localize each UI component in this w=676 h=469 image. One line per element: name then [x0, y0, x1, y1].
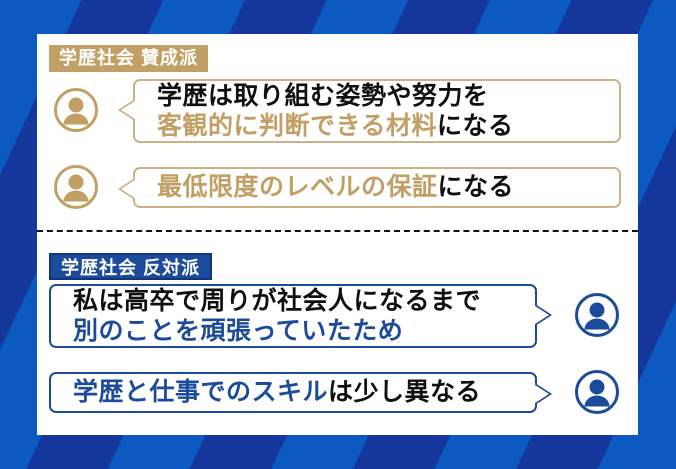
statement-line: 学歴は取り組む姿勢や努力を — [157, 81, 619, 112]
statement-text-segment: になる — [437, 112, 514, 140]
statement-line: 私は高卒で周りが社会人になるまで — [73, 286, 535, 317]
statement-line: 最低限度のレベルの保証になる — [157, 172, 619, 203]
statement-bubble-con-2: 学歴と仕事でのスキルは少し異なる — [49, 372, 537, 413]
person-avatar-icon — [53, 87, 99, 133]
statement-text-segment: になる — [438, 173, 515, 201]
statement-text-segment: 私は高卒で周りが社会人になるまで — [73, 287, 481, 315]
section-divider — [37, 230, 638, 232]
statement-text-segment: 学歴と仕事でのスキル — [73, 378, 328, 406]
bubble-tail-inner — [121, 101, 135, 119]
slide-background: 学歴社会 賛成派 学歴は取り組む姿勢や努力を 客観的に判断できる材料になる — [0, 0, 676, 469]
person-avatar-icon — [574, 292, 620, 338]
section-label-pro: 学歴社会 賛成派 — [49, 45, 208, 72]
statement-text-segment: 客観的に判断できる材料 — [157, 112, 437, 140]
person-avatar-icon — [53, 164, 99, 210]
statement-line: 客観的に判断できる材料になる — [157, 111, 619, 142]
statement-line: 学歴と仕事でのスキルは少し異なる — [73, 377, 535, 408]
bubble-tail-inner — [121, 180, 135, 198]
statement-bubble-con-1: 私は高卒で周りが社会人になるまで 別のことを頑張っていたため — [49, 284, 537, 348]
person-avatar-icon — [574, 369, 620, 415]
statement-text-segment: は少し異なる — [328, 378, 481, 406]
statement-line: 別のことを頑張っていたため — [73, 316, 535, 347]
section-label-con: 学歴社会 反対派 — [49, 253, 212, 280]
statement-text-segment: 最低限度のレベルの保証 — [157, 173, 438, 201]
bubble-tail-inner — [535, 306, 549, 324]
statement-text-segment: 別のことを頑張っていたため — [73, 317, 403, 345]
bubble-tail-inner — [535, 385, 549, 403]
statement-text-segment: 学歴は取り組む姿勢や努力を — [157, 82, 489, 110]
content-card: 学歴社会 賛成派 学歴は取り組む姿勢や努力を 客観的に判断できる材料になる — [37, 34, 638, 435]
statement-bubble-pro-2: 最低限度のレベルの保証になる — [133, 167, 621, 208]
statement-bubble-pro-1: 学歴は取り組む姿勢や努力を 客観的に判断できる材料になる — [133, 79, 621, 143]
